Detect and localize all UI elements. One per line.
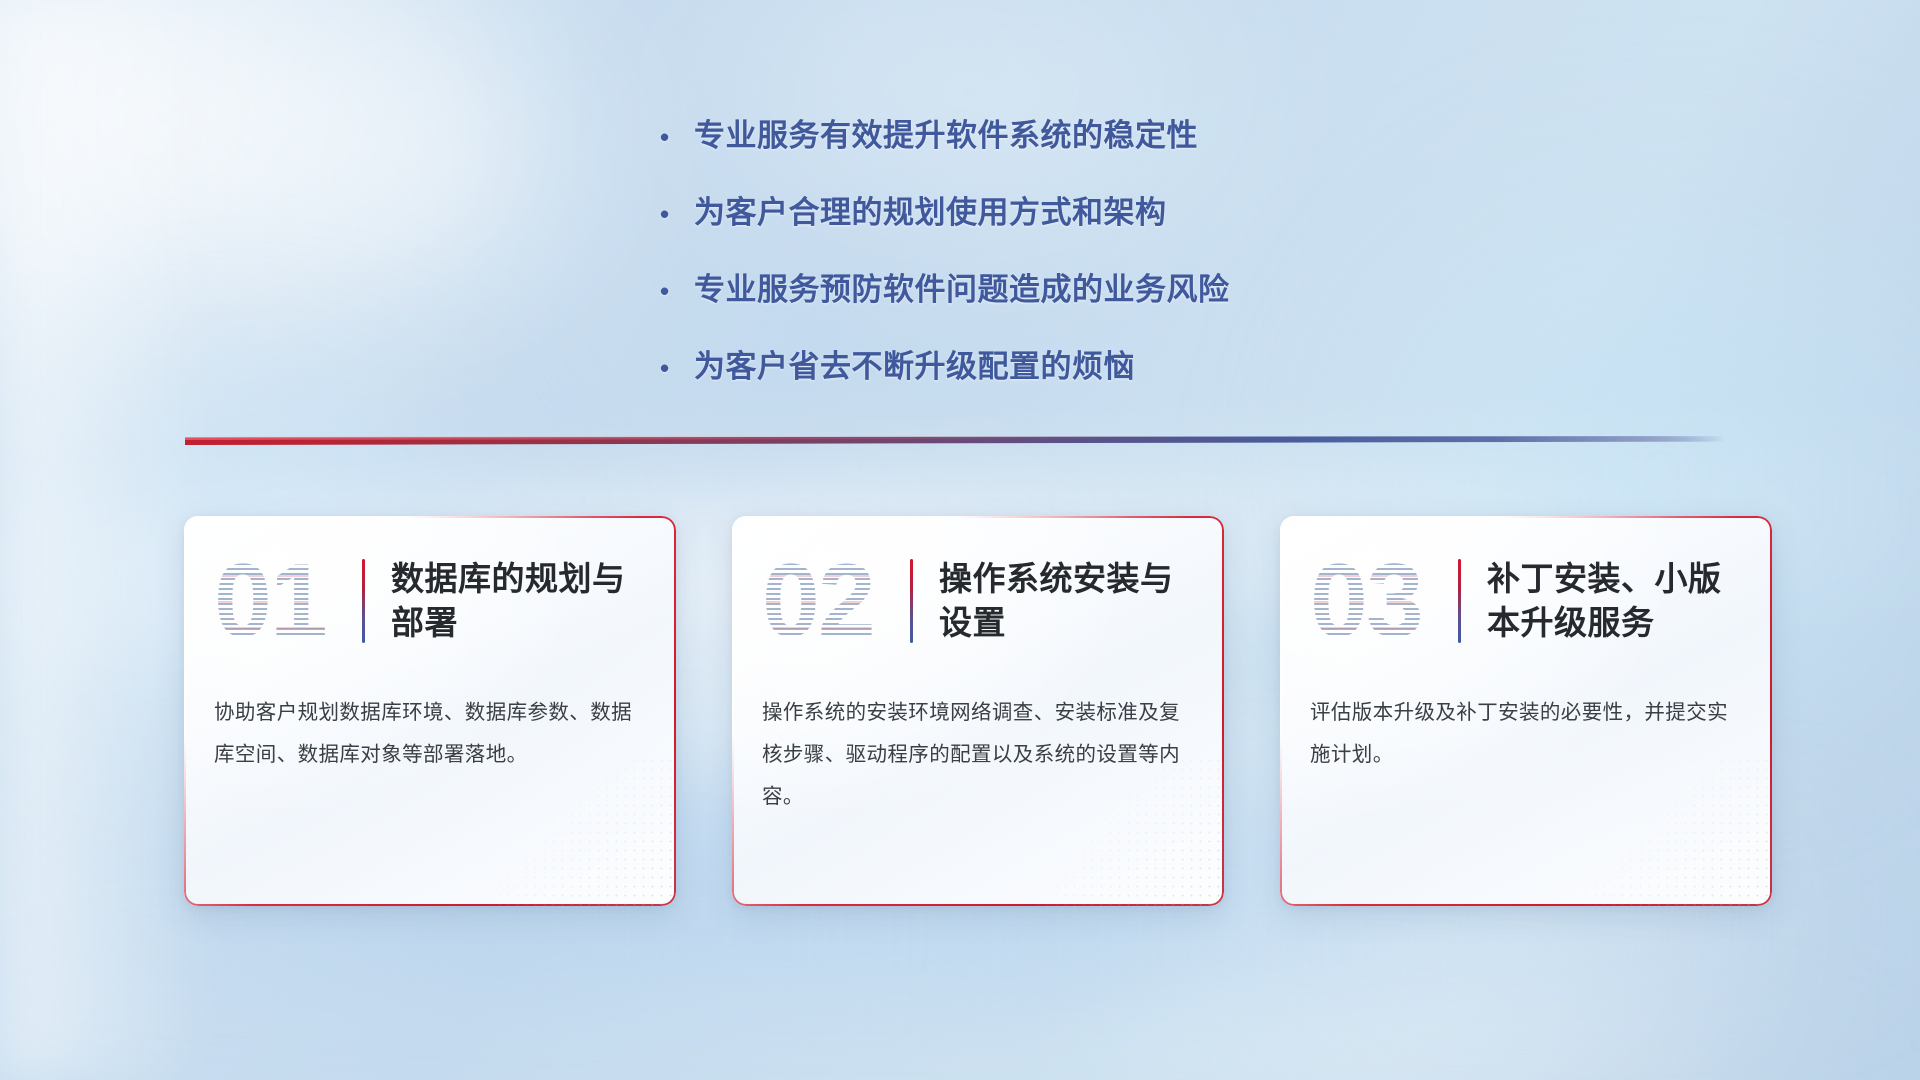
bullet-dot-icon: • xyxy=(660,124,694,150)
bullet-text: 专业服务有效提升软件系统的稳定性 xyxy=(694,110,1380,155)
list-item: • 专业服务预防软件问题造成的业务风险 xyxy=(660,264,1380,309)
card-number-watermark: 0202 xyxy=(762,547,902,655)
section-divider xyxy=(185,430,1725,452)
bullet-dot-icon: • xyxy=(660,278,694,304)
card-accent-bar xyxy=(910,559,913,643)
card-number-watermark-tint: 02 xyxy=(762,547,902,655)
card-header: 0202 操作系统安装与设置 xyxy=(732,516,1224,686)
bullet-dot-icon: • xyxy=(660,355,694,381)
card-number-watermark: 0101 xyxy=(214,547,354,655)
service-card[interactable]: 0303 补丁安装、小版本升级服务 评估版本升级及补丁安装的必要性，并提交实施计… xyxy=(1280,516,1772,906)
benefits-bullet-list: • 专业服务有效提升软件系统的稳定性 • 为客户合理的规划使用方式和架构 • 专… xyxy=(660,110,1380,418)
card-dot-pattern xyxy=(1582,756,1772,906)
card-accent-bar xyxy=(362,559,365,643)
list-item: • 为客户合理的规划使用方式和架构 xyxy=(660,187,1380,232)
card-dot-pattern xyxy=(486,756,676,906)
card-header: 0101 数据库的规划与部署 xyxy=(184,516,676,686)
list-item: • 专业服务有效提升软件系统的稳定性 xyxy=(660,110,1380,155)
card-body-text: 评估版本升级及补丁安装的必要性，并提交实施计划。 xyxy=(1280,686,1772,776)
card-title: 补丁安装、小版本升级服务 xyxy=(1487,557,1746,644)
card-number-watermark-tint: 01 xyxy=(214,547,354,655)
bullet-text: 为客户合理的规划使用方式和架构 xyxy=(694,187,1380,232)
bullet-text: 为客户省去不断升级配置的烦恼 xyxy=(694,341,1380,386)
card-body-text: 协助客户规划数据库环境、数据库参数、数据库空间、数据库对象等部署落地。 xyxy=(184,686,676,776)
service-card[interactable]: 0202 操作系统安装与设置 操作系统的安装环境网络调查、安装标准及复核步骤、驱… xyxy=(732,516,1224,906)
card-number-watermark-tint: 03 xyxy=(1310,547,1450,655)
card-title: 操作系统安装与设置 xyxy=(939,557,1198,644)
card-number-watermark: 0303 xyxy=(1310,547,1450,655)
card-header: 0303 补丁安装、小版本升级服务 xyxy=(1280,516,1772,686)
card-accent-bar xyxy=(1458,559,1461,643)
card-body-text: 操作系统的安装环境网络调查、安装标准及复核步骤、驱动程序的配置以及系统的设置等内… xyxy=(732,686,1224,818)
bullet-text: 专业服务预防软件问题造成的业务风险 xyxy=(694,264,1380,309)
bullet-dot-icon: • xyxy=(660,201,694,227)
service-card[interactable]: 0101 数据库的规划与部署 协助客户规划数据库环境、数据库参数、数据库空间、数… xyxy=(184,516,676,906)
list-item: • 为客户省去不断升级配置的烦恼 xyxy=(660,341,1380,386)
card-title: 数据库的规划与部署 xyxy=(391,557,650,644)
service-cards: 0101 数据库的规划与部署 协助客户规划数据库环境、数据库参数、数据库空间、数… xyxy=(184,516,1772,906)
